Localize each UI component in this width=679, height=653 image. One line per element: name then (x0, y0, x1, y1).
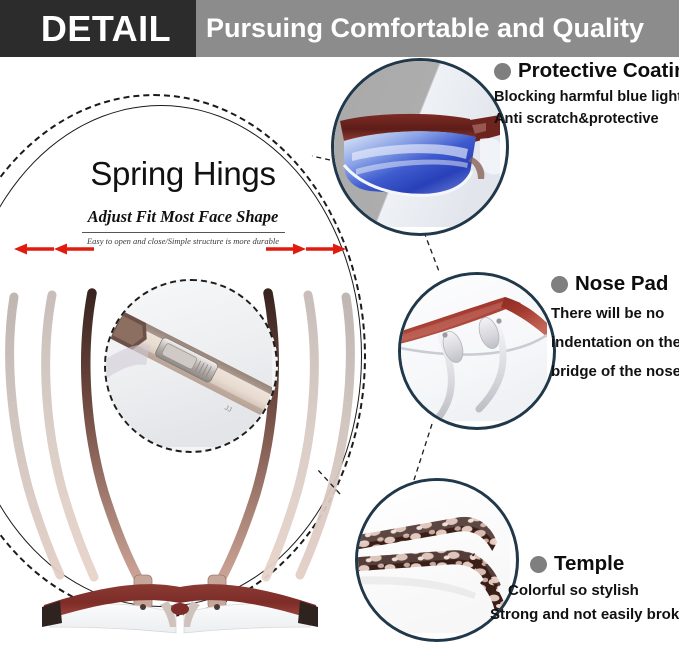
protective-coating-photo (331, 58, 509, 236)
callout-nose-pad: Nose Pad There will be no indentation on… (551, 273, 679, 386)
product-detail-infographic: DETAIL Pursuing Comfortable and Quality … (0, 0, 679, 653)
flex-arrow-right-2 (304, 243, 348, 255)
callout-protective-coating-header: Protective Coating (494, 60, 679, 83)
callout-temple: Temple Colorful so stylish Strong and no… (508, 553, 679, 627)
callout-temple-title: Temple (554, 553, 624, 576)
spring-hinge-section: Spring Hings Adjust Fit Most Face Shape … (0, 57, 360, 653)
nosepad-photo-graphic (401, 275, 547, 421)
callout-nose-pad-title: Nose Pad (575, 273, 668, 296)
bullet-dot-icon (551, 276, 568, 293)
connector-nosepad-to-temple (414, 424, 432, 480)
header-banner: DETAIL Pursuing Comfortable and Quality (0, 0, 679, 57)
callout-protective-coating-line-2: Anti scratch&protective (494, 108, 679, 131)
callout-protective-coating: Protective Coating Blocking harmful blue… (494, 60, 679, 131)
callout-nose-pad-line-2: indentation on the (551, 328, 679, 357)
coating-photo-graphic (334, 61, 500, 227)
callout-temple-line-1: Colorful so stylish (508, 579, 679, 603)
temple-photo-graphic (358, 481, 510, 633)
callout-nose-pad-header: Nose Pad (551, 273, 679, 296)
hinge-photo-graphic: JJ (106, 281, 272, 447)
callout-protective-coating-title: Protective Coating (518, 60, 679, 83)
nose-pad-photo (398, 272, 556, 430)
bullet-dot-icon (494, 63, 511, 80)
callout-temple-header: Temple (508, 553, 679, 576)
header-tagline-label: Pursuing Comfortable and Quality (196, 0, 679, 57)
flex-arrow-right-1 (264, 243, 308, 255)
spring-hinge-detail-photo: JJ (104, 279, 278, 453)
bullet-dot-icon (530, 556, 547, 573)
callout-temple-line-2: Strong and not easily broken (490, 603, 679, 627)
callout-nose-pad-line-3: bridge of the nose (551, 357, 679, 386)
header-badge-label: DETAIL (0, 0, 196, 57)
connector-coating-to-nosepad (424, 232, 440, 274)
callout-nose-pad-line-1: There will be no (551, 299, 679, 328)
flex-arrow-left-1 (12, 243, 56, 255)
flex-arrow-left-2 (52, 243, 96, 255)
callout-protective-coating-line-1: Blocking harmful blue light (494, 86, 679, 109)
